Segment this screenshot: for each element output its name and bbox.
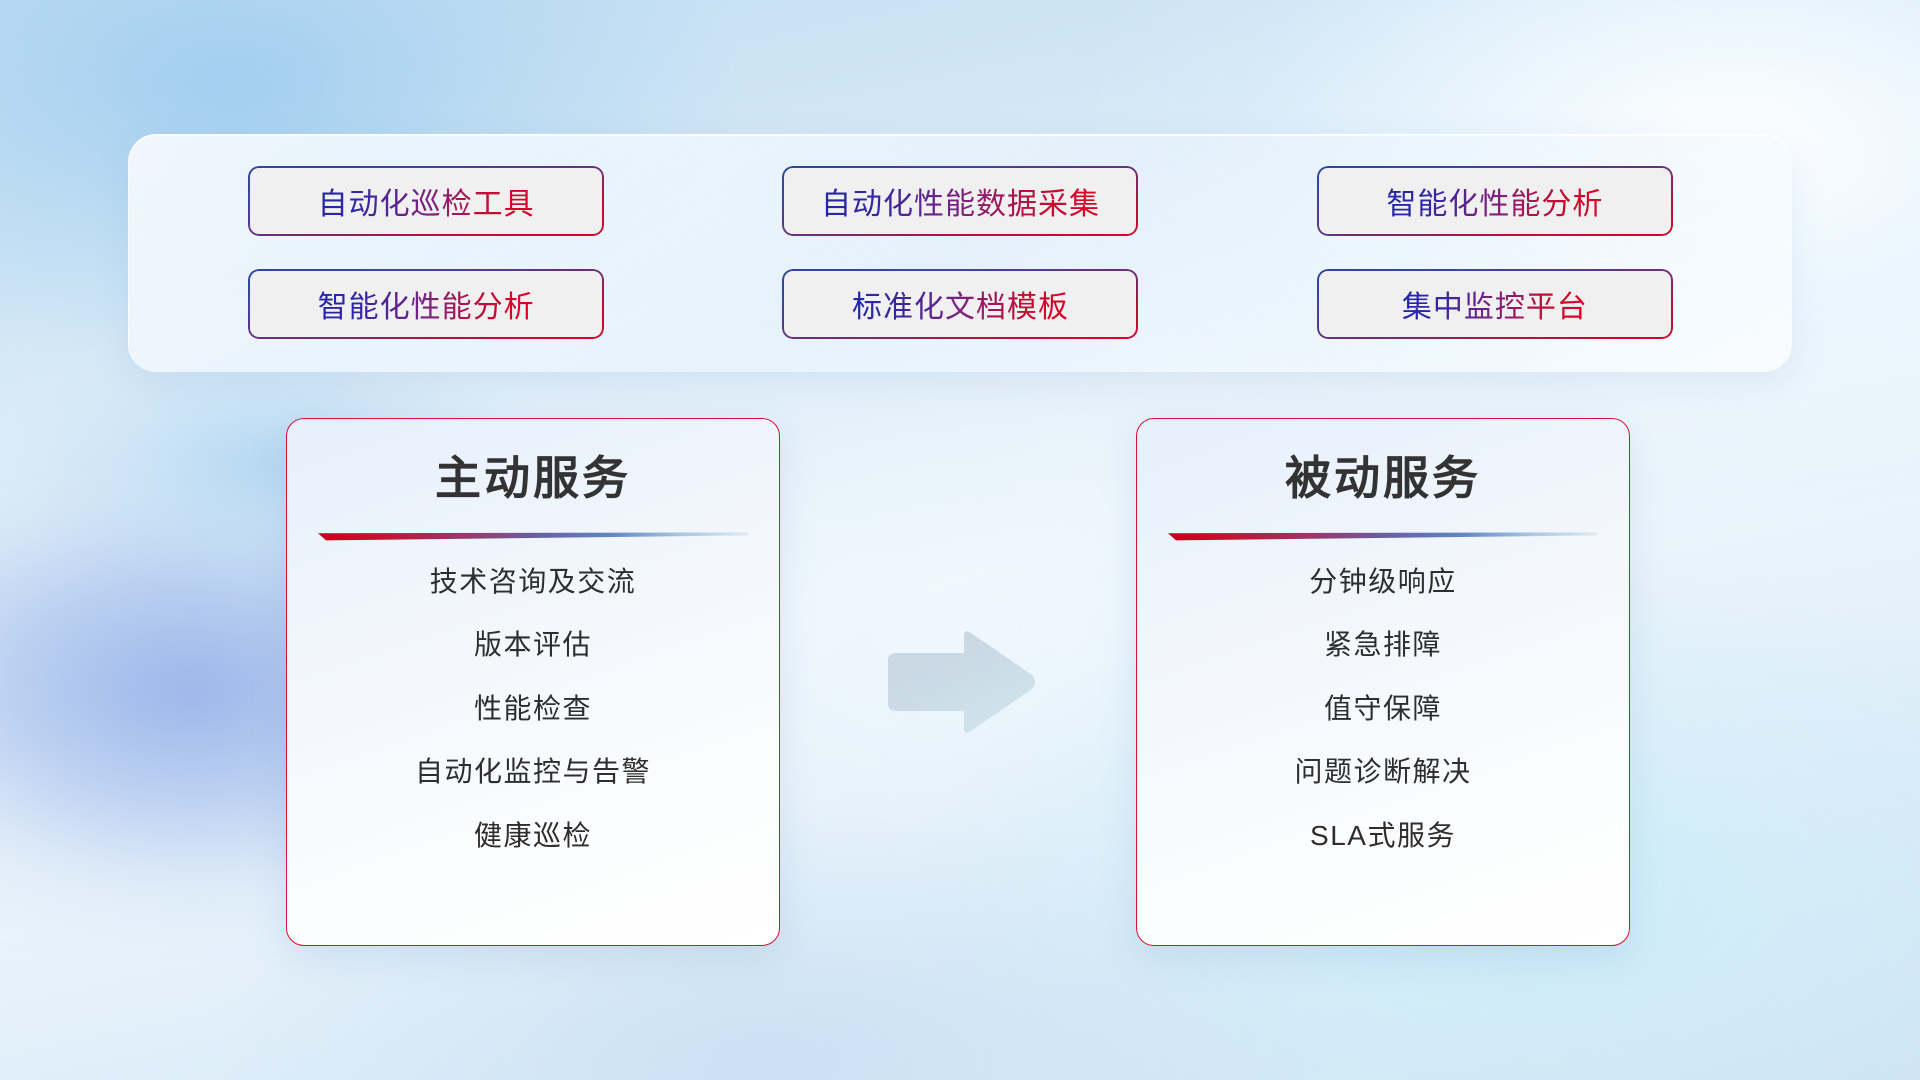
capability-pill-label: 智能化性能分析 — [1386, 179, 1603, 223]
capability-pill[interactable]: 智能化性能分析 — [248, 269, 604, 339]
card-item: 技术咨询及交流 — [430, 565, 637, 599]
capability-pill-label: 智能化性能分析 — [318, 282, 535, 326]
capability-pill[interactable]: 自动化性能数据采集 — [782, 166, 1138, 236]
card-item: 健康巡检 — [474, 819, 592, 853]
capability-pill[interactable]: 集中监控平台 — [1317, 269, 1673, 339]
capability-pill-label: 标准化文档模板 — [852, 282, 1069, 326]
capability-panel: 自动化巡检工具 自动化性能数据采集 智能化性能分析 智能化性能分析 标准化文档模… — [128, 134, 1792, 372]
capability-pill-label: 集中监控平台 — [1402, 282, 1588, 326]
card-item: 性能检查 — [474, 692, 592, 726]
card-item: SLA式服务 — [1310, 819, 1456, 853]
capability-pill[interactable]: 标准化文档模板 — [782, 269, 1138, 339]
capability-pill[interactable]: 自动化巡检工具 — [248, 166, 604, 236]
card-item: 分钟级响应 — [1309, 565, 1457, 599]
capability-pill-label: 自动化性能数据采集 — [821, 179, 1100, 223]
card-item: 版本评估 — [474, 628, 592, 662]
card-divider — [1168, 532, 1598, 541]
card-divider — [318, 532, 748, 541]
card-title: 被动服务 — [1285, 453, 1481, 504]
card-item: 紧急排障 — [1324, 628, 1442, 662]
arrow-right-icon — [880, 628, 1038, 736]
card-item: 自动化监控与告警 — [415, 755, 651, 789]
card-item: 值守保障 — [1324, 692, 1442, 726]
card-item: 问题诊断解决 — [1294, 755, 1471, 789]
capability-pill-label: 自动化巡检工具 — [318, 179, 535, 223]
capability-pill[interactable]: 智能化性能分析 — [1317, 166, 1673, 236]
service-card-proactive: 主动服务 技术咨询及交流 版本评估 性能检查 自动化监控与告警 健康巡检 — [286, 418, 780, 946]
service-card-reactive: 被动服务 分钟级响应 紧急排障 值守保障 问题诊断解决 SLA式服务 — [1136, 418, 1630, 946]
card-item-list: 技术咨询及交流 版本评估 性能检查 自动化监控与告警 健康巡检 — [287, 565, 779, 871]
card-item-list: 分钟级响应 紧急排障 值守保障 问题诊断解决 SLA式服务 — [1137, 565, 1629, 871]
card-title: 主动服务 — [435, 453, 631, 504]
